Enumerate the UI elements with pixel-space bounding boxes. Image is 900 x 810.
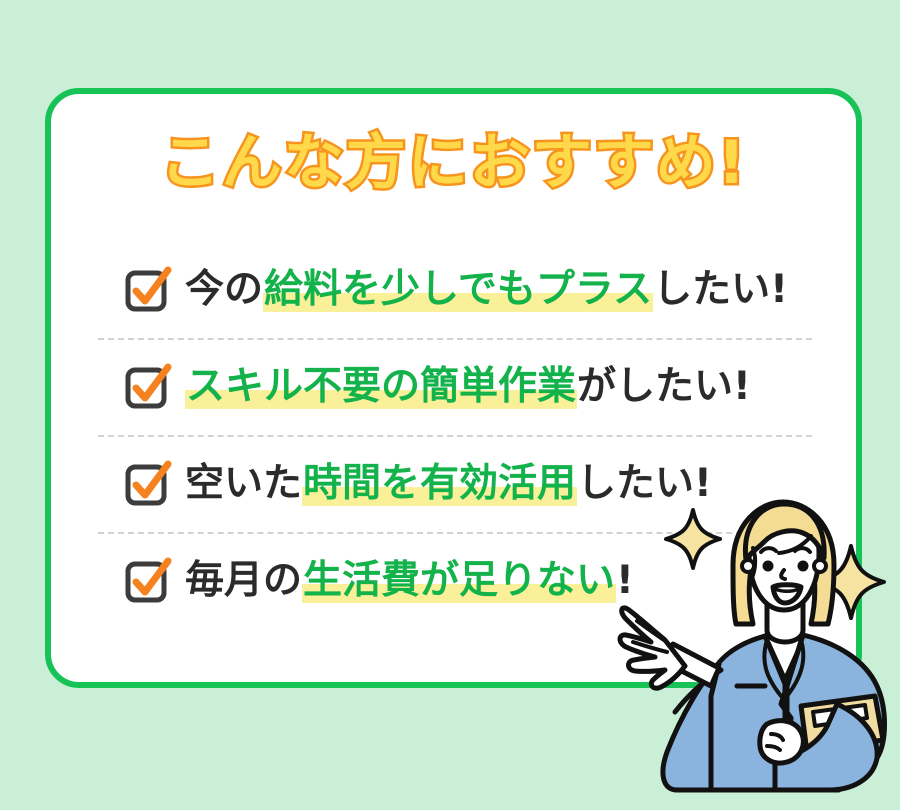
list-item-tail: ! bbox=[616, 558, 634, 603]
list-item-highlight: スキル不要の簡単作業 bbox=[185, 364, 577, 409]
list-item-highlight: 生活費が足りない bbox=[302, 558, 616, 603]
list-item-highlight: 時間を有効活用 bbox=[302, 461, 577, 506]
list-item-lead: 今の bbox=[185, 267, 263, 312]
checked-checkbox-icon[interactable] bbox=[125, 559, 169, 603]
list-item-text: 今の給料を少しでもプラスしたい! bbox=[185, 269, 788, 312]
list-item-tail: したい! bbox=[653, 267, 788, 312]
list-item-text: 毎月の生活費が足りない! bbox=[185, 560, 634, 603]
list-item-text: 空いた時間を有効活用したい! bbox=[185, 463, 712, 506]
checked-checkbox-icon[interactable] bbox=[125, 365, 169, 409]
checked-checkbox-icon[interactable] bbox=[125, 268, 169, 312]
list-item[interactable]: 毎月の生活費が足りない! bbox=[45, 534, 862, 629]
list-item-lead: 毎月の bbox=[185, 558, 302, 603]
list-item[interactable]: スキル不要の簡単作業がしたい! bbox=[45, 340, 862, 435]
list-item-lead: 空いた bbox=[185, 461, 302, 506]
list-item[interactable]: 空いた時間を有効活用したい! bbox=[45, 437, 862, 532]
list-item-text: スキル不要の簡単作業がしたい! bbox=[185, 366, 751, 409]
list-item-tail: がしたい! bbox=[577, 364, 751, 409]
promo-graphic: こんな方におすすめ! 今の給料を少しでもプラスしたい! bbox=[0, 0, 900, 810]
list-item[interactable]: 今の給料を少しでもプラスしたい! bbox=[45, 243, 862, 338]
checklist: 今の給料を少しでもプラスしたい! スキル不要の簡単作業がしたい! bbox=[45, 243, 862, 629]
list-item-tail: したい! bbox=[577, 461, 712, 506]
list-item-highlight: 給料を少しでもプラス bbox=[263, 267, 653, 312]
checked-checkbox-icon[interactable] bbox=[125, 462, 169, 506]
